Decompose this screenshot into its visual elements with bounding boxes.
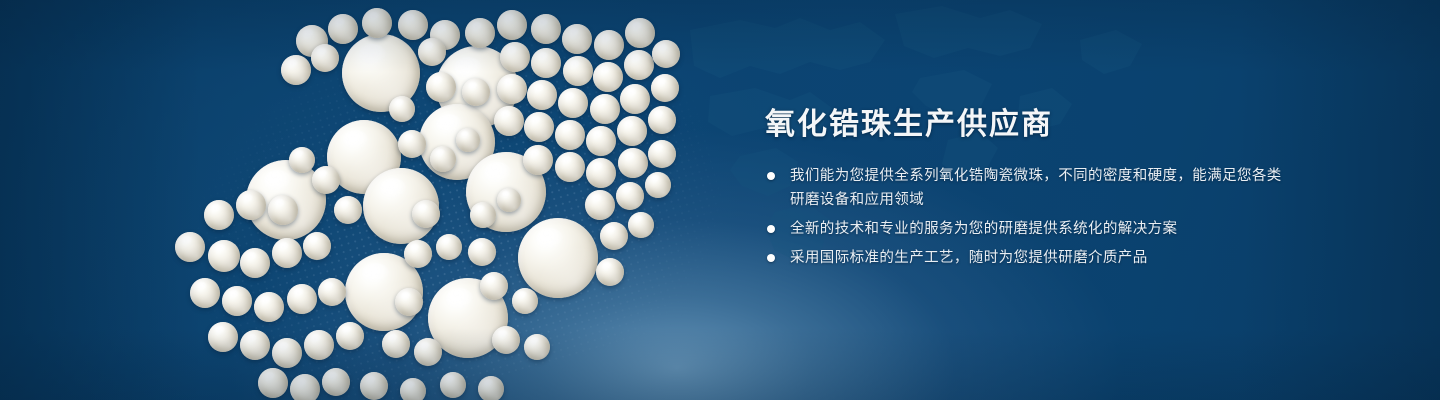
bullet-dot-icon: [767, 225, 775, 233]
feature-bullet-list: 我们能为您提供全系列氧化锆陶瓷微珠，不同的密度和硬度，能满足您各类研磨设备和应用…: [763, 164, 1283, 270]
feature-bullet-text: 全新的技术和专业的服务为您的研磨提供系统化的解决方案: [790, 221, 1177, 237]
feature-bullet-text: 采用国际标准的生产工艺，随时为您提供研磨介质产品: [790, 250, 1148, 266]
feature-bullet-item: 采用国际标准的生产工艺，随时为您提供研磨介质产品: [763, 246, 1283, 270]
bullet-dot-icon: [767, 254, 775, 262]
feature-bullet-item: 全新的技术和专业的服务为您的研磨提供系统化的解决方案: [763, 217, 1283, 241]
feature-bullet-item: 我们能为您提供全系列氧化锆陶瓷微珠，不同的密度和硬度，能满足您各类研磨设备和应用…: [763, 164, 1283, 212]
feature-bullet-text: 我们能为您提供全系列氧化锆陶瓷微珠，不同的密度和硬度，能满足您各类研磨设备和应用…: [790, 168, 1282, 208]
page-title: 氧化锆珠生产供应商: [765, 106, 1283, 144]
bullet-dot-icon: [767, 172, 775, 180]
banner-copy-block: 氧化锆珠生产供应商 我们能为您提供全系列氧化锆陶瓷微珠，不同的密度和硬度，能满足…: [763, 106, 1283, 275]
hero-banner: 氧化锆珠生产供应商 我们能为您提供全系列氧化锆陶瓷微珠，不同的密度和硬度，能满足…: [0, 0, 1440, 400]
